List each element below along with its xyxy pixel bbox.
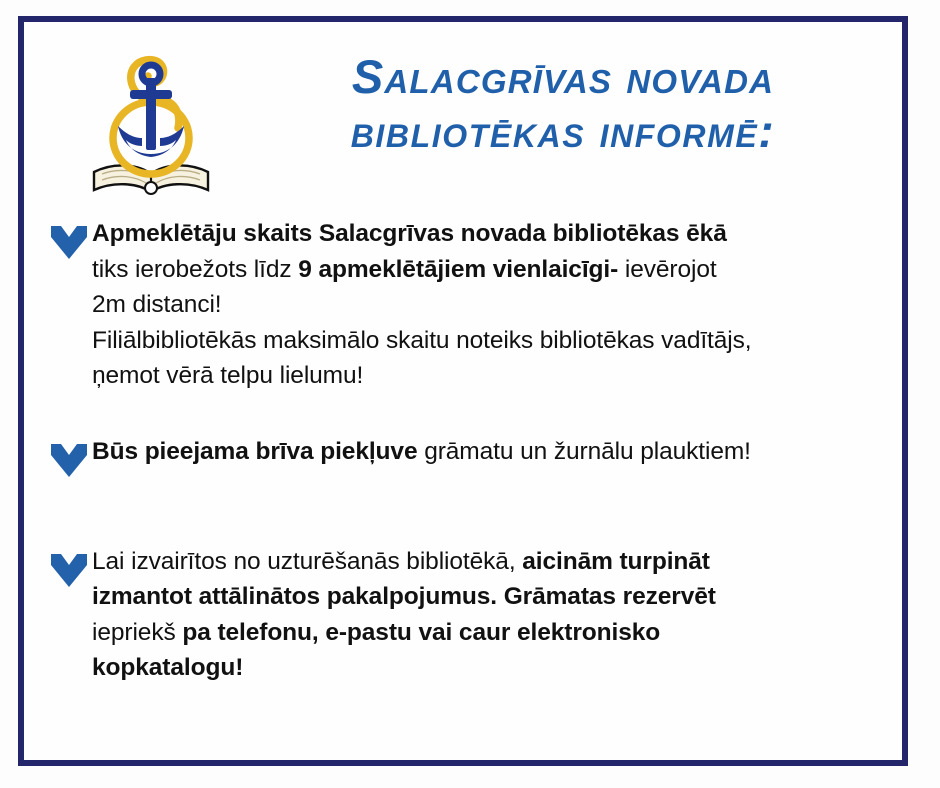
paragraph-line: izmantot attālinātos pakalpojumus. Grāma… bbox=[92, 579, 884, 615]
paragraph-free-access: Būs pieejama brīva piekļuve grāmatu un ž… bbox=[48, 434, 884, 480]
text-emphasis: 9 apmeklētājiem vienlaicīgi- bbox=[298, 256, 618, 283]
chevron-down-icon bbox=[48, 550, 90, 590]
paragraph-visitors-limit: Apmeklētāju skaits Salacgrīvas novada bi… bbox=[48, 216, 884, 394]
paragraph-line: Lai izvairītos no uzturēšanās bibliotēkā… bbox=[92, 544, 884, 580]
text-run: Lai izvairītos no uzturēšanās bibliotēkā… bbox=[92, 548, 522, 575]
text-run: ņemot vērā telpu lielumu! bbox=[92, 362, 363, 389]
library-logo bbox=[86, 50, 216, 200]
text-run: iepriekš bbox=[92, 619, 182, 646]
text-run: ievērojot bbox=[618, 256, 716, 283]
paragraph-text: Lai izvairītos no uzturēšanās bibliotēkā… bbox=[92, 544, 884, 686]
text-emphasis: aicinām turpināt bbox=[522, 548, 710, 575]
paragraph-remote-services: Lai izvairītos no uzturēšanās bibliotēkā… bbox=[48, 544, 884, 686]
text-run: tiks ierobežots līdz bbox=[92, 256, 298, 283]
paragraph-text: Apmeklētāju skaits Salacgrīvas novada bi… bbox=[92, 216, 884, 394]
paragraph-text: Būs pieejama brīva piekļuve grāmatu un ž… bbox=[92, 434, 884, 470]
text-emphasis: Būs pieejama brīva piekļuve bbox=[92, 438, 417, 465]
poster-title-line-2: bibliotēkas informē: bbox=[224, 105, 902, 159]
poster-header: Salacgrīvas novada bibliotēkas informē: bbox=[24, 28, 902, 206]
text-emphasis: pa telefonu, e-pastu vai caur elektronis… bbox=[182, 619, 660, 646]
text-emphasis: Apmeklētāju skaits Salacgrīvas novada bi… bbox=[92, 220, 727, 247]
paragraph-line: iepriekš pa telefonu, e-pastu vai caur e… bbox=[92, 615, 884, 651]
chevron-down-icon bbox=[48, 440, 90, 480]
paragraph-line: tiks ierobežots līdz 9 apmeklētājiem vie… bbox=[92, 252, 884, 288]
paragraph-line: Filiālbibliotēkās maksimālo skaitu notei… bbox=[92, 323, 884, 359]
paragraph-line: Apmeklētāju skaits Salacgrīvas novada bi… bbox=[92, 216, 884, 252]
paragraph-line: kopkatalogu! bbox=[92, 650, 884, 686]
poster-frame: Salacgrīvas novada bibliotēkas informē: … bbox=[18, 16, 908, 766]
text-run: grāmatu un žurnālu plauktiem! bbox=[417, 438, 750, 465]
text-run: 2m distanci! bbox=[92, 291, 222, 318]
salacgriva-library-anchor-book-logo bbox=[86, 50, 216, 200]
chevron-down-icon bbox=[48, 222, 90, 262]
poster-title-line-1: Salacgrīvas novada bbox=[224, 50, 902, 105]
poster-title: Salacgrīvas novada bibliotēkas informē: bbox=[216, 28, 902, 159]
text-run: Filiālbibliotēkās maksimālo skaitu notei… bbox=[92, 327, 751, 354]
text-emphasis: izmantot attālinātos pakalpojumus. Grāma… bbox=[92, 583, 716, 610]
text-emphasis: kopkatalogu! bbox=[92, 654, 243, 681]
poster-inner: Salacgrīvas novada bibliotēkas informē: … bbox=[24, 22, 902, 760]
paragraph-line: ņemot vērā telpu lielumu! bbox=[92, 358, 884, 394]
paragraph-line: Būs pieejama brīva piekļuve grāmatu un ž… bbox=[92, 434, 884, 470]
poster-body: Apmeklētāju skaits Salacgrīvas novada bi… bbox=[24, 206, 902, 760]
paragraph-line: 2m distanci! bbox=[92, 287, 884, 323]
